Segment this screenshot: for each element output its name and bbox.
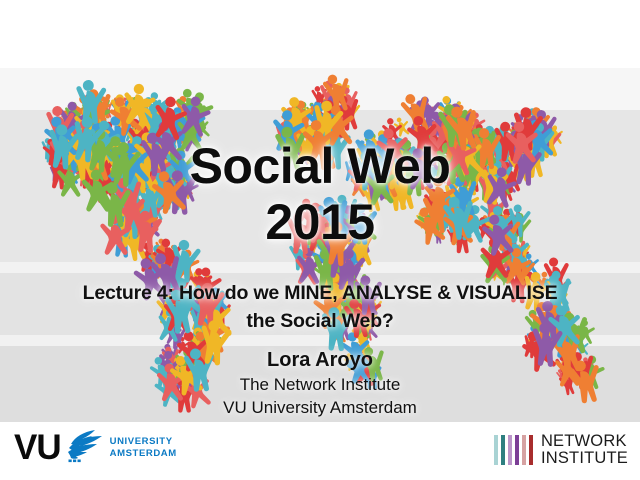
vu-wordmark: VU	[14, 430, 61, 466]
author-organisation-university: VU University Amsterdam	[0, 396, 640, 419]
presentation-slide: Social Web 2015 Lecture 4: How do we MIN…	[0, 0, 640, 480]
network-institute-wordmark: NETWORK INSTITUTE	[541, 433, 628, 467]
vu-tagline-line-2: AMSTERDAM	[110, 448, 177, 460]
network-institute-bar	[494, 435, 498, 465]
background-band-top	[0, 0, 640, 68]
vu-university-logo: VU UNIVERSITY AMSTERDAM	[14, 428, 177, 468]
network-institute-bar	[522, 435, 526, 465]
vu-griffin-icon	[64, 428, 104, 469]
slide-title-line-2: 2015	[0, 193, 640, 251]
slide-subtitle-line-2: the Social Web?	[0, 307, 640, 335]
author-organisation-institute: The Network Institute	[0, 373, 640, 396]
network-institute-word-line-1: NETWORK	[541, 433, 628, 450]
network-institute-bar	[501, 435, 505, 465]
slide-subtitle-line-1: Lecture 4: How do we MINE, ANALYSE & VIS…	[0, 279, 640, 307]
vu-tagline-line-1: UNIVERSITY	[110, 436, 177, 448]
network-institute-logo: NETWORK INSTITUTE	[494, 432, 628, 468]
vu-tagline: UNIVERSITY AMSTERDAM	[110, 436, 177, 460]
network-institute-bar	[515, 435, 519, 465]
network-institute-word-line-2: INSTITUTE	[541, 450, 628, 467]
author-name: Lora Aroyo	[0, 348, 640, 373]
slide-title-line-1: Social Web	[0, 137, 640, 195]
network-institute-bar	[529, 435, 533, 465]
network-institute-bars-icon	[494, 435, 533, 465]
network-institute-bar	[508, 435, 512, 465]
